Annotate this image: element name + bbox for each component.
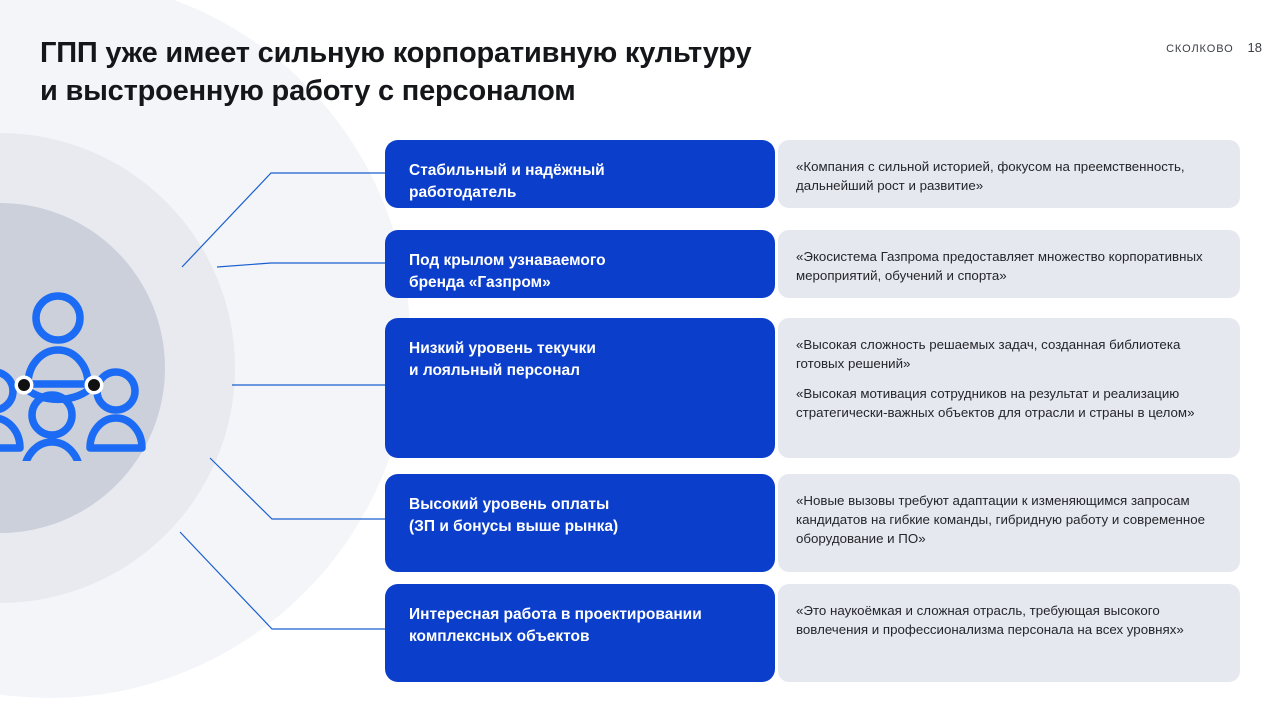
row-detail-box[interactable]: «Высокая сложность решаемых задач, созда…	[778, 318, 1240, 458]
row-label-box[interactable]: Высокий уровень оплаты (ЗП и бонусы выше…	[385, 474, 775, 572]
row-label-box[interactable]: Интересная работа в проектировании компл…	[385, 584, 775, 682]
row-detail-box[interactable]: «Новые вызовы требуют адаптации к изменя…	[778, 474, 1240, 572]
row-label-box[interactable]: Стабильный и надёжный работодатель	[385, 140, 775, 208]
diagram-row: Высокий уровень оплаты (ЗП и бонусы выше…	[385, 474, 775, 572]
row-label-box[interactable]: Под крылом узнаваемого бренда «Газпром»	[385, 230, 775, 298]
diagram-row: Низкий уровень текучки и лояльный персон…	[385, 318, 775, 458]
brand-block: СКОЛКОВО 18	[1166, 40, 1262, 55]
diagram-row: Интересная работа в проектировании компл…	[385, 584, 775, 682]
row-detail-paragraph: «Это наукоёмкая и сложная отрасль, требу…	[796, 601, 1220, 639]
page-number: 18	[1248, 40, 1262, 55]
slide-canvas: ГПП уже имеет сильную корпоративную куль…	[0, 0, 1280, 720]
connector-line-1	[182, 173, 385, 267]
connector-line-2	[217, 263, 385, 267]
row-detail-paragraph: «Высокая мотивация сотрудников на резуль…	[796, 384, 1220, 422]
row-detail-box[interactable]: «Экосистема Газпрома предоставляет множе…	[778, 230, 1240, 298]
page-title: ГПП уже имеет сильную корпоративную куль…	[40, 34, 751, 111]
diagram-row: Под крылом узнаваемого бренда «Газпром»«…	[385, 230, 775, 298]
row-detail-box[interactable]: «Это наукоёмкая и сложная отрасль, требу…	[778, 584, 1240, 682]
connector-line-4	[210, 458, 385, 519]
people-group-icon	[0, 286, 175, 461]
row-detail-paragraph: «Компания с сильной историей, фокусом на…	[796, 157, 1220, 195]
row-label-box[interactable]: Низкий уровень текучки и лояльный персон…	[385, 318, 775, 458]
diagram-row: Стабильный и надёжный работодатель«Компа…	[385, 140, 775, 208]
row-detail-box[interactable]: «Компания с сильной историей, фокусом на…	[778, 140, 1240, 208]
connector-line-5	[180, 532, 385, 629]
row-detail-paragraph: «Высокая сложность решаемых задач, созда…	[796, 335, 1220, 373]
row-detail-paragraph: «Экосистема Газпрома предоставляет множе…	[796, 247, 1220, 285]
row-detail-paragraph: «Новые вызовы требуют адаптации к изменя…	[796, 491, 1220, 548]
brand-name: СКОЛКОВО	[1166, 43, 1233, 55]
